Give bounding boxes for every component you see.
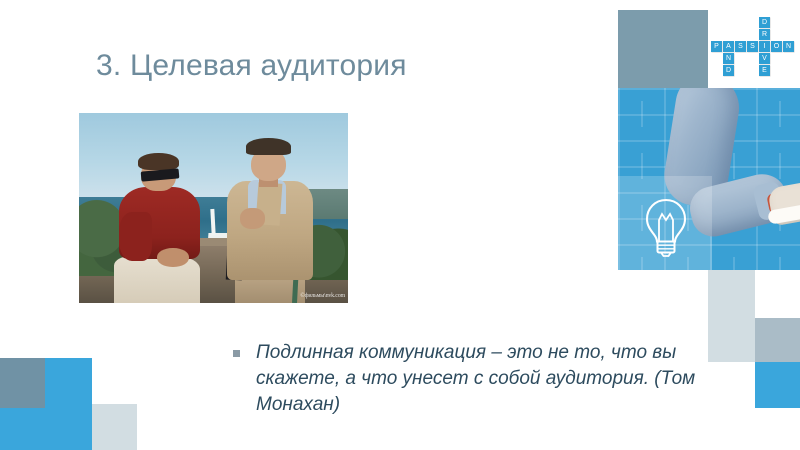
logo-tile: R (759, 29, 770, 40)
photo-young-man-legs (114, 256, 200, 304)
logo-tile: O (771, 41, 782, 52)
decor-white-panel (618, 270, 712, 314)
decor-square-blue-right (755, 362, 800, 408)
quote-text: Подлинная коммуникация – это не то, что … (256, 340, 703, 418)
photo-watermark: ©фильмы\nvk.com (300, 293, 345, 300)
square-bullet-icon (233, 350, 240, 357)
logo-tile: S (735, 41, 746, 52)
logo-tile: E (759, 65, 770, 76)
photo-older-man-cap (246, 138, 292, 155)
logo-tile: V (759, 53, 770, 64)
photo-young-man-arm (119, 212, 151, 261)
logo-tile: N (783, 41, 794, 52)
page-title: 3. Целевая аудитория (96, 47, 566, 85)
passion-and-drive-logo: PASSIONDRVEND (711, 8, 795, 84)
logo-tile: I (759, 41, 770, 52)
photo-young-man-hands (157, 248, 189, 267)
presentation-slide: 3. Целевая аудитория ©фильмы\nvk.com (0, 0, 800, 450)
logo-tile: S (747, 41, 758, 52)
logo-tile: A (723, 41, 734, 52)
logo-tile: N (723, 53, 734, 64)
decor-square-gray-right (755, 318, 800, 362)
photo-young-man-hair (138, 153, 178, 170)
film-still-image: ©фильмы\nvk.com (79, 113, 348, 303)
decor-square-lightgray-bottomleft (92, 404, 137, 450)
logo-tile: D (723, 65, 734, 76)
photo-older-man-hand (240, 208, 264, 229)
lightbulb-icon (639, 196, 693, 258)
quote-block: Подлинная коммуникация – это не то, что … (233, 340, 703, 418)
decor-square-slate-top (618, 10, 708, 89)
logo-tile: D (759, 17, 770, 28)
decor-square-slate-bottomleft (0, 358, 45, 408)
decor-square-lightgray-right (708, 270, 755, 362)
logo-tile: P (711, 41, 722, 52)
